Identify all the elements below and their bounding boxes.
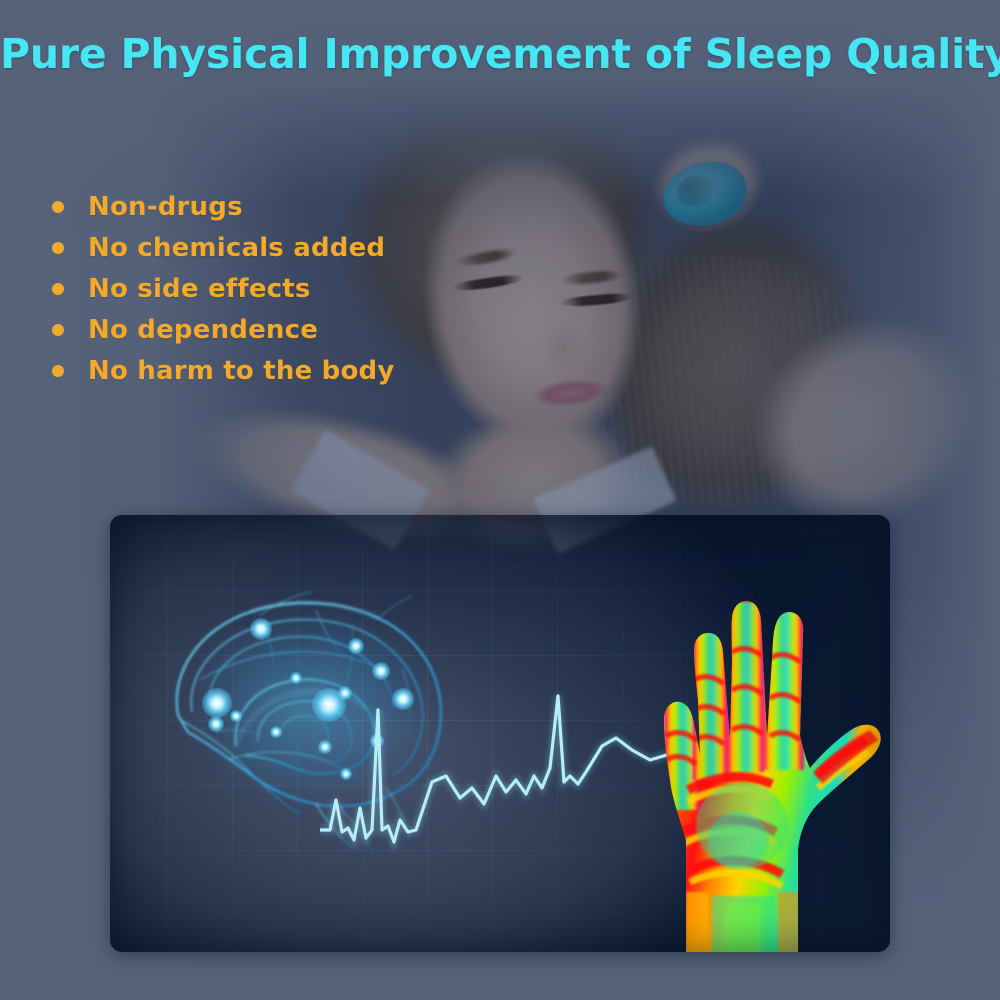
list-item: No dependence bbox=[52, 309, 482, 350]
benefit-label: No harm to the body bbox=[88, 356, 395, 386]
brain-node bbox=[290, 672, 302, 684]
promo-page: Pure Physical Improvement of Sleep Quali… bbox=[0, 0, 1000, 1000]
benefit-label: No chemicals added bbox=[88, 233, 385, 263]
list-item: No chemicals added bbox=[52, 227, 482, 268]
benefits-list: Non-drugs No chemicals added No side eff… bbox=[52, 186, 482, 391]
bullet-dot-icon bbox=[52, 324, 64, 336]
list-item: No side effects bbox=[52, 268, 482, 309]
brain-node bbox=[270, 726, 282, 738]
brain-node bbox=[202, 688, 232, 718]
thermal-hand-image bbox=[620, 540, 890, 952]
list-item: No harm to the body bbox=[52, 350, 482, 391]
infrared-hand-icon bbox=[620, 540, 890, 952]
brain-node bbox=[230, 710, 242, 722]
bullet-dot-icon bbox=[52, 283, 64, 295]
benefit-label: No side effects bbox=[88, 274, 311, 304]
brain-node bbox=[372, 662, 390, 680]
benefit-label: Non-drugs bbox=[88, 192, 243, 222]
page-title: Pure Physical Improvement of Sleep Quali… bbox=[0, 30, 1000, 78]
benefit-label: No dependence bbox=[88, 315, 318, 345]
brain-node bbox=[348, 638, 364, 654]
bullet-dot-icon bbox=[52, 201, 64, 213]
bullet-dot-icon bbox=[52, 242, 64, 254]
brain-node bbox=[250, 618, 272, 640]
list-item: Non-drugs bbox=[52, 186, 482, 227]
bullet-dot-icon bbox=[52, 365, 64, 377]
brain-node bbox=[208, 716, 224, 732]
tech-illustration-panel bbox=[110, 515, 890, 952]
